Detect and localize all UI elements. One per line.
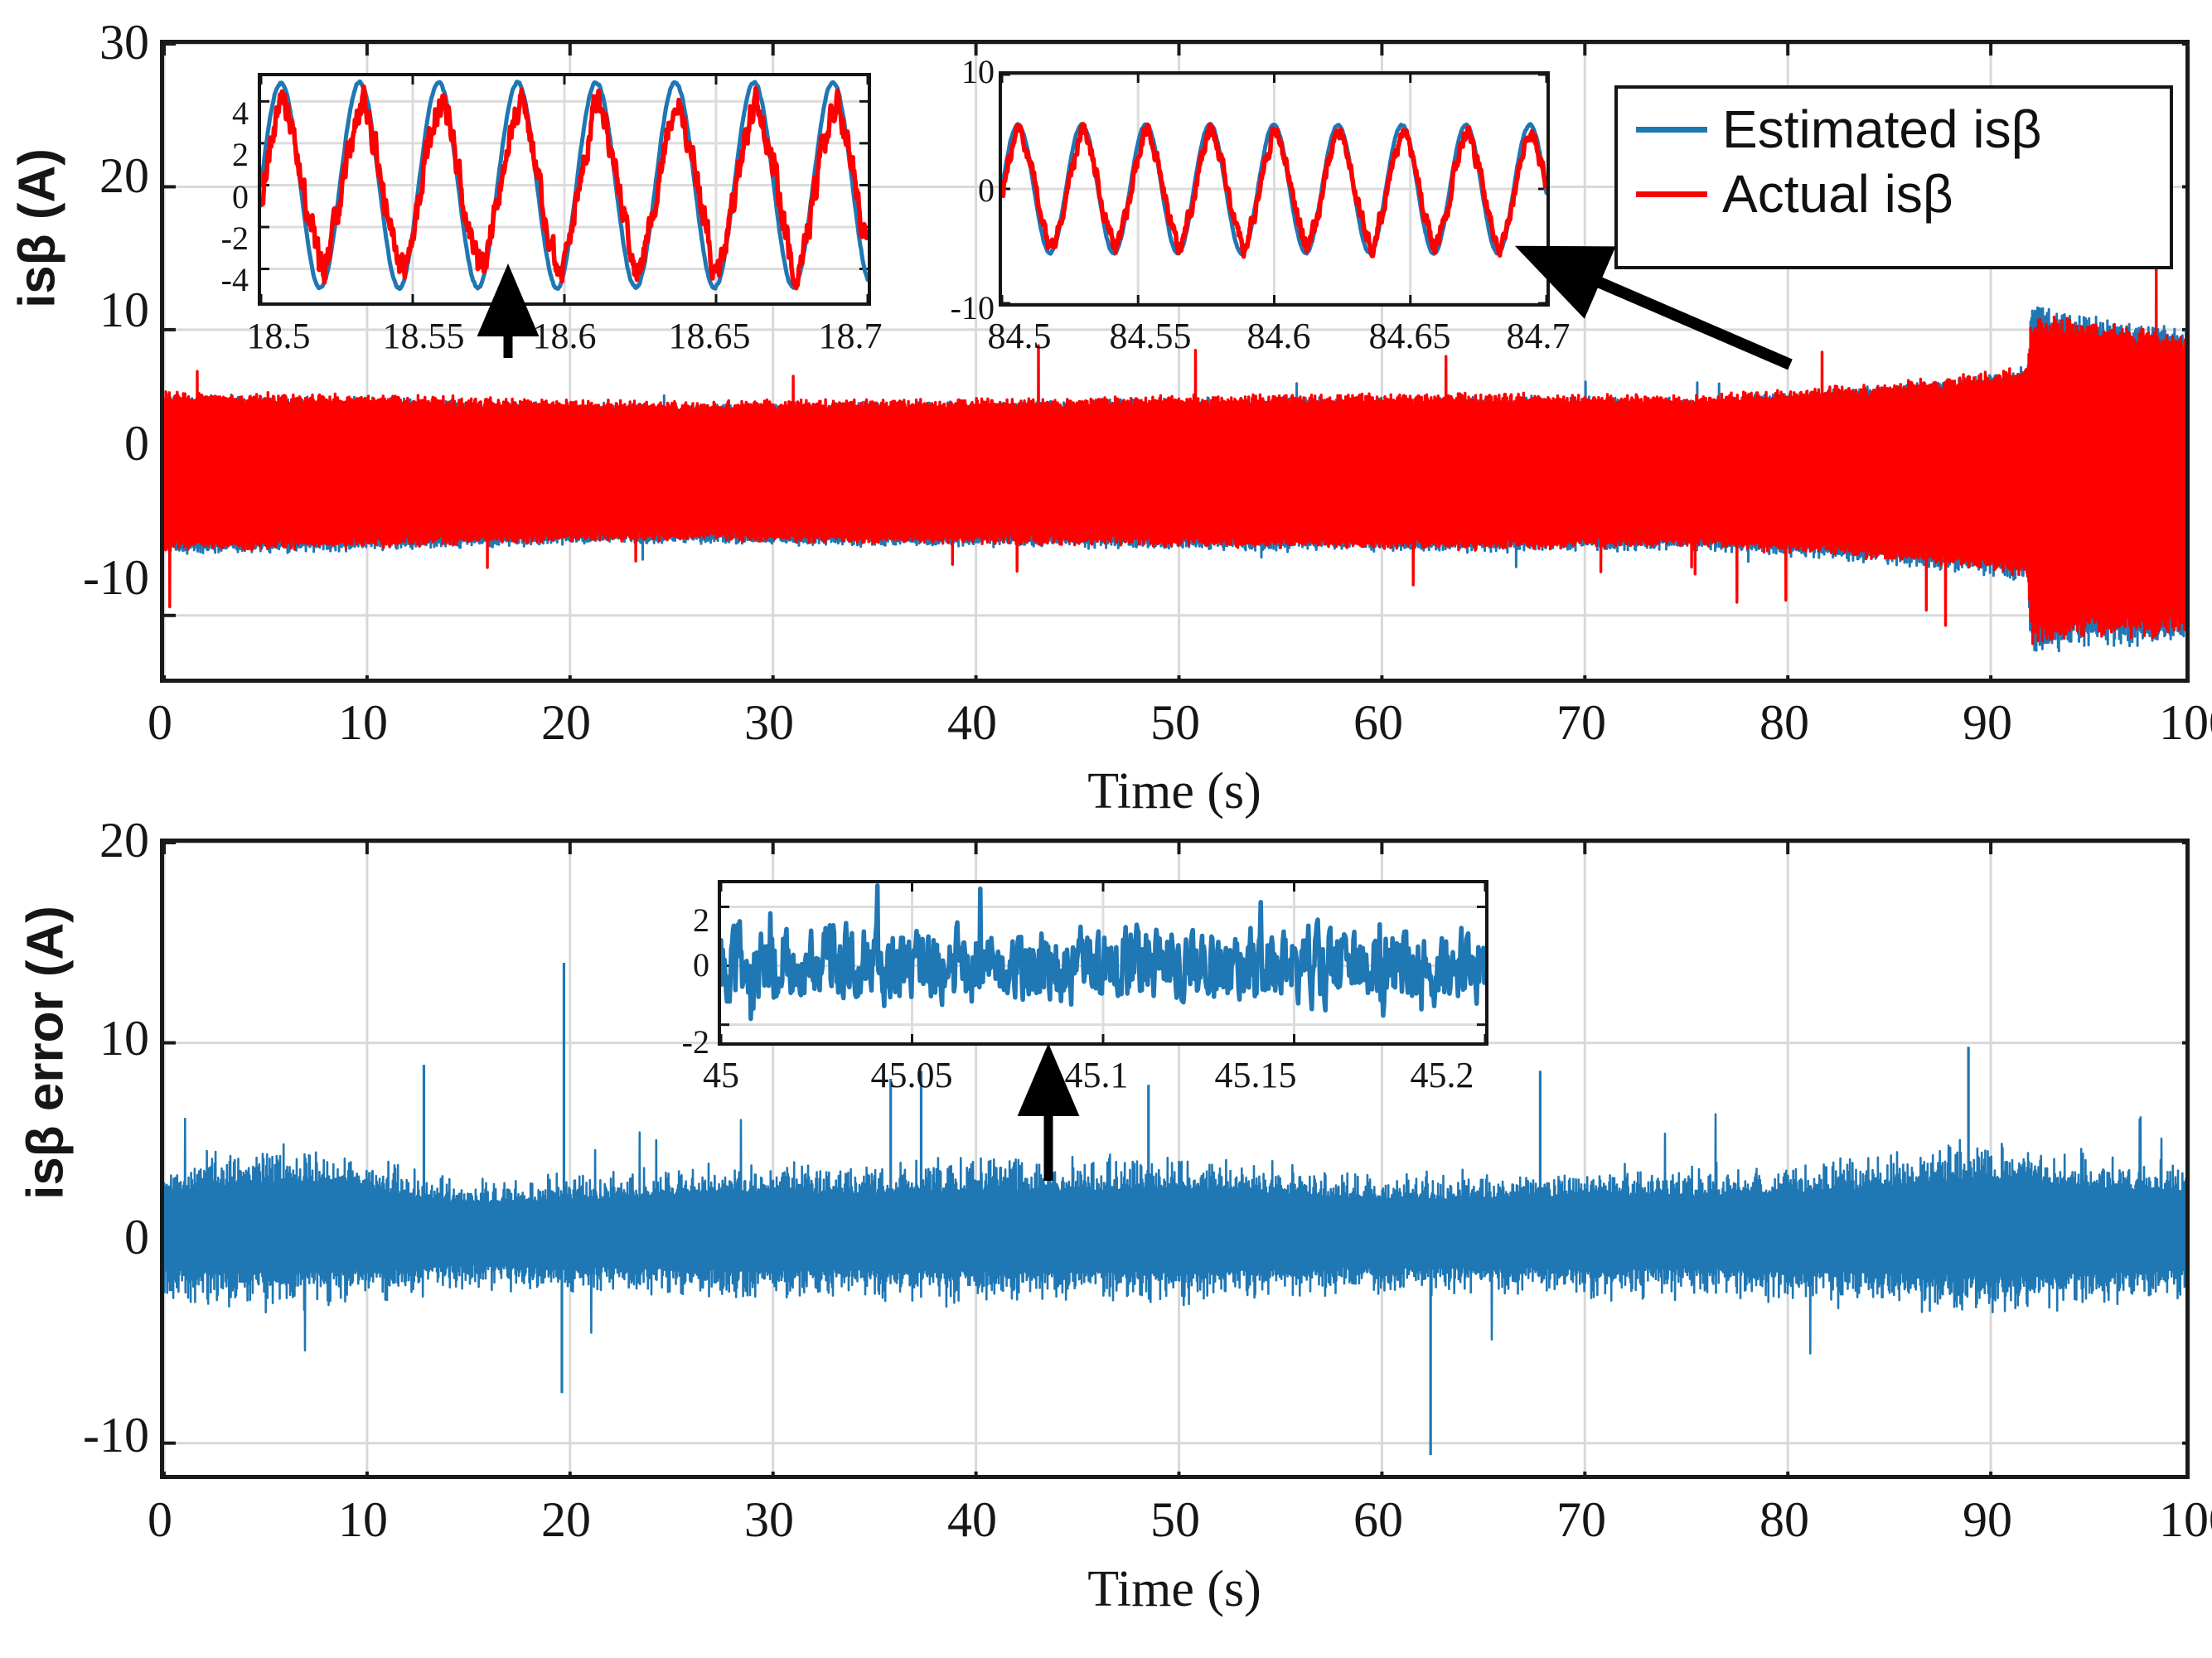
bottom-inset-xtick-45_2: 45.2 bbox=[1372, 1054, 1513, 1096]
top-inset-left-xtick-18_65: 18.65 bbox=[627, 315, 792, 357]
top-xtick-80: 80 bbox=[1735, 694, 1834, 752]
top-inset-left-ytick-2: 2 bbox=[166, 135, 249, 174]
top-inset-right bbox=[999, 71, 1550, 307]
bottom-xtick-40: 40 bbox=[922, 1491, 1022, 1549]
top-xtick-40: 40 bbox=[922, 694, 1022, 752]
bottom-ytick-10: 10 bbox=[0, 1010, 149, 1067]
top-xtick-90: 90 bbox=[1938, 694, 2037, 752]
top-xtick-30: 30 bbox=[719, 694, 819, 752]
bottom-inset-xtick-45_05: 45.05 bbox=[829, 1054, 995, 1096]
legend-item-actual[interactable]: Actual isβ bbox=[1636, 162, 2148, 226]
bottom-inset-xtick-45_1: 45.1 bbox=[1026, 1054, 1167, 1096]
top-xtick-70: 70 bbox=[1532, 694, 1631, 752]
legend-swatch-actual bbox=[1636, 191, 1707, 197]
top-xtick-20: 20 bbox=[516, 694, 616, 752]
top-inset-left-ytick-4: 4 bbox=[166, 94, 249, 133]
bottom-inset-ytick-0: 0 bbox=[635, 945, 709, 984]
bottom-xtick-60: 60 bbox=[1329, 1491, 1428, 1549]
top-panel-xlabel: Time (s) bbox=[967, 762, 1382, 821]
top-inset-left-ytick-m4: -4 bbox=[166, 260, 249, 299]
top-xtick-60: 60 bbox=[1329, 694, 1428, 752]
top-ytick-20: 20 bbox=[0, 147, 149, 205]
legend-swatch-estimated bbox=[1636, 127, 1707, 133]
bottom-inset-xtick-45_15: 45.15 bbox=[1173, 1054, 1338, 1096]
bottom-xtick-0: 0 bbox=[110, 1491, 210, 1549]
legend-label-actual: Actual isβ bbox=[1722, 167, 1953, 220]
top-inset-left-ytick-m2: -2 bbox=[166, 219, 249, 258]
bottom-xtick-70: 70 bbox=[1532, 1491, 1631, 1549]
bottom-xtick-90: 90 bbox=[1938, 1491, 2037, 1549]
top-ytick-m10: -10 bbox=[0, 549, 149, 607]
legend-label-estimated: Estimated isβ bbox=[1722, 103, 2041, 156]
top-xtick-10: 10 bbox=[313, 694, 413, 752]
top-ytick-10: 10 bbox=[0, 282, 149, 339]
bottom-xtick-10: 10 bbox=[313, 1491, 413, 1549]
figure-root: isβ (A) 30 20 10 0 -10 0 10 20 30 40 50 … bbox=[0, 0, 2212, 1658]
top-inset-left-xtick-18_6: 18.6 bbox=[494, 315, 635, 357]
top-inset-right-ytick-10: 10 bbox=[903, 52, 995, 91]
bottom-inset-xtick-45: 45 bbox=[671, 1054, 771, 1096]
bottom-panel: isβ error (A) 20 10 0 -10 0 10 20 30 40 … bbox=[0, 829, 2212, 1658]
bottom-panel-xlabel: Time (s) bbox=[967, 1560, 1382, 1619]
top-xtick-50: 50 bbox=[1125, 694, 1225, 752]
top-inset-left-xtick-18_5: 18.5 bbox=[208, 315, 349, 357]
bottom-ytick-m10: -10 bbox=[0, 1407, 149, 1464]
top-xtick-0: 0 bbox=[110, 694, 210, 752]
top-ytick-0: 0 bbox=[0, 415, 149, 472]
top-inset-left-xtick-18_55: 18.55 bbox=[341, 315, 506, 357]
bottom-inset-ytick-2: 2 bbox=[635, 901, 709, 940]
bottom-inset bbox=[718, 880, 1488, 1046]
bottom-xtick-50: 50 bbox=[1125, 1491, 1225, 1549]
top-inset-right-xtick-84_7: 84.7 bbox=[1468, 315, 1609, 357]
top-inset-left-ytick-0: 0 bbox=[166, 177, 249, 216]
top-inset-right-ytick-0: 0 bbox=[903, 171, 995, 210]
bottom-xtick-20: 20 bbox=[516, 1491, 616, 1549]
bottom-ytick-20: 20 bbox=[0, 812, 149, 869]
legend-box: Estimated isβ Actual isβ bbox=[1614, 85, 2173, 269]
bottom-xtick-30: 30 bbox=[719, 1491, 819, 1549]
legend-item-estimated[interactable]: Estimated isβ bbox=[1636, 97, 2148, 162]
bottom-ytick-0: 0 bbox=[0, 1209, 149, 1266]
bottom-xtick-100: 100 bbox=[2130, 1491, 2212, 1549]
bottom-xtick-80: 80 bbox=[1735, 1491, 1834, 1549]
top-ytick-30: 30 bbox=[0, 14, 149, 71]
top-xtick-100: 100 bbox=[2130, 694, 2212, 752]
top-inset-left bbox=[258, 73, 871, 306]
top-panel: isβ (A) 30 20 10 0 -10 0 10 20 30 40 50 … bbox=[0, 0, 2212, 829]
